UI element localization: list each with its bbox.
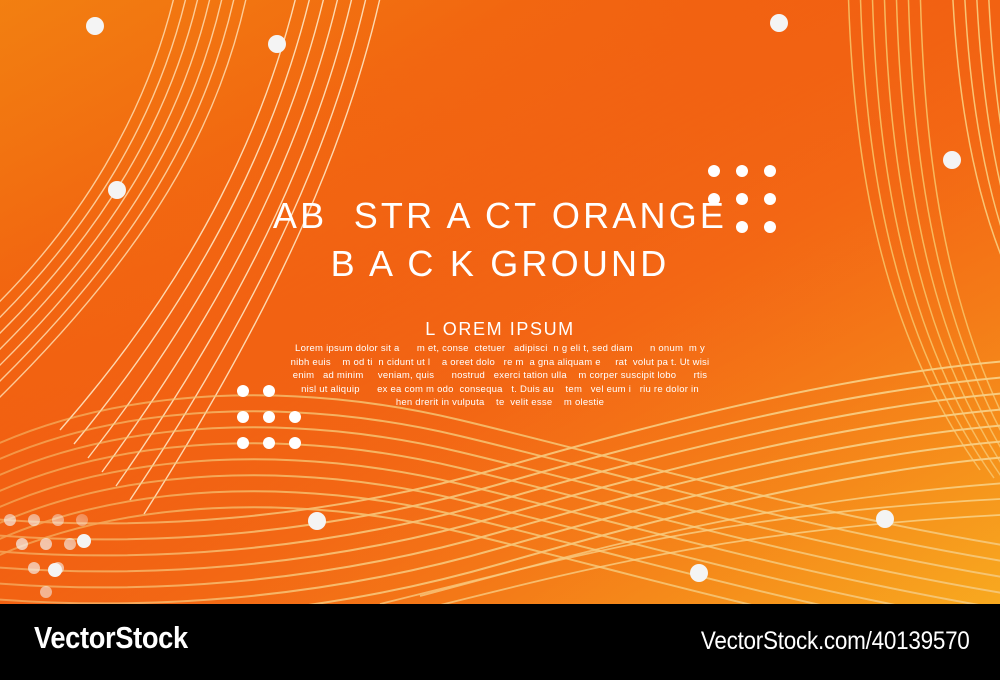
decorative-dot xyxy=(28,562,40,574)
decorative-dot xyxy=(690,564,708,582)
decorative-dot xyxy=(16,538,28,550)
decorative-dot xyxy=(64,538,76,550)
screenshot-root: AB STR A CT ORANGE B A C K GROUND L OREM… xyxy=(0,0,1000,680)
watermark-bar: VectorStock VectorStock.com/40139570 xyxy=(0,604,1000,680)
decorative-dot xyxy=(237,437,249,449)
decorative-dot xyxy=(263,437,275,449)
decorative-dot xyxy=(77,534,91,548)
decorative-dot xyxy=(289,437,301,449)
decorative-dot xyxy=(876,510,894,528)
decorative-dot xyxy=(943,151,961,169)
decorative-dot xyxy=(237,411,249,423)
decorative-dot xyxy=(764,193,776,205)
decorative-dot xyxy=(4,514,16,526)
vectorstock-url: VectorStock.com/40139570 xyxy=(701,627,970,656)
vectorstock-logo: VectorStock xyxy=(34,620,188,656)
decorative-dot xyxy=(268,35,286,53)
decorative-dot xyxy=(76,514,88,526)
decorative-dot xyxy=(263,385,275,397)
decorative-dot xyxy=(708,193,720,205)
decorative-dot xyxy=(736,221,748,233)
decorative-dot xyxy=(40,538,52,550)
decorative-dot xyxy=(52,514,64,526)
abstract-background-artwork xyxy=(0,0,1000,604)
decorative-dot xyxy=(708,165,720,177)
decorative-dot xyxy=(764,165,776,177)
decorative-dot xyxy=(86,17,104,35)
decorative-dot xyxy=(263,411,275,423)
decorative-dot xyxy=(770,14,788,32)
decorative-dot xyxy=(28,514,40,526)
decorative-dot xyxy=(736,193,748,205)
decorative-dot xyxy=(308,512,326,530)
decorative-dot xyxy=(48,563,62,577)
decorative-dot xyxy=(237,385,249,397)
decorative-dot xyxy=(108,181,126,199)
decorative-dot xyxy=(764,221,776,233)
decorative-dot xyxy=(289,411,301,423)
background-vector-graphic xyxy=(0,0,1000,604)
decorative-dot xyxy=(40,586,52,598)
decorative-dot xyxy=(736,165,748,177)
